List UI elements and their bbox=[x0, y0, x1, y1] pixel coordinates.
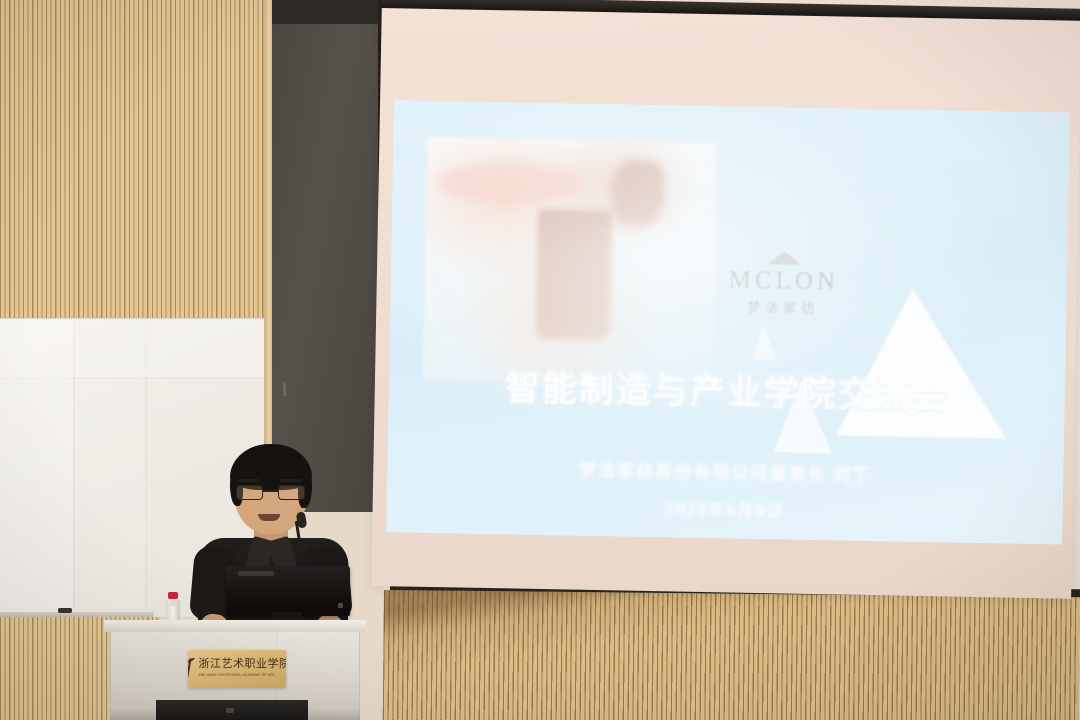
slide-date-line: 2023年6月9日 bbox=[387, 490, 1063, 526]
photo-shadow-primary bbox=[536, 209, 612, 340]
lecture-hall-photo: MCLON 梦洁家纺 智能制造与产业学院交流会 梦洁家纺股份有限公司董事长 刘丁… bbox=[0, 0, 1080, 720]
slide-brand-logo: MCLON 梦洁家纺 bbox=[678, 249, 889, 318]
alcove-header-beam bbox=[272, 0, 384, 24]
brand-triangle-icon bbox=[767, 251, 801, 265]
glasses-lens-right bbox=[278, 485, 305, 500]
wood-slat-wall-left bbox=[0, 0, 268, 318]
door-handle bbox=[283, 382, 286, 396]
speaker-eyebrow-right bbox=[280, 479, 302, 482]
brand-wordmark: MCLON bbox=[679, 265, 889, 297]
podium-top-surface bbox=[104, 620, 366, 632]
speaker-eyebrow-left bbox=[238, 479, 260, 482]
projected-slide: MCLON 梦洁家纺 智能制造与产业学院交流会 梦洁家纺股份有限公司董事长 刘丁… bbox=[386, 100, 1070, 544]
slide-mountain-tiny-icon bbox=[751, 321, 778, 360]
podium-monitor bbox=[226, 566, 350, 616]
glasses-bridge bbox=[263, 490, 278, 492]
whiteboard-marker bbox=[58, 608, 72, 613]
photo-highlight bbox=[436, 161, 587, 206]
cabinet-handle bbox=[226, 708, 234, 713]
podium-nameplate: 浙江艺术职业学院 ZHEJIANG VOCATIONAL ACADEMY OF … bbox=[188, 650, 286, 688]
slide-presenter-line: 梦洁家纺股份有限公司董事长 刘丁 bbox=[387, 452, 1063, 489]
nameplate-text-english: ZHEJIANG VOCATIONAL ACADEMY OF ART bbox=[199, 673, 276, 677]
bottle-cap bbox=[168, 592, 178, 599]
nameplate-text-chinese: 浙江艺术职业学院 bbox=[199, 659, 287, 671]
glasses-lens-left bbox=[236, 485, 263, 500]
wood-slat-wall-right bbox=[383, 590, 1080, 720]
projection-screen-assembly: MCLON 梦洁家纺 智能制造与产业学院交流会 梦洁家纺股份有限公司董事长 刘丁… bbox=[371, 0, 1080, 609]
photo-shadow-secondary bbox=[612, 160, 665, 227]
alcove-recess bbox=[272, 0, 384, 512]
projection-screen-surface: MCLON 梦洁家纺 智能制造与产业学院交流会 梦洁家纺股份有限公司董事长 刘丁… bbox=[371, 8, 1080, 599]
bottle-neck bbox=[170, 598, 176, 606]
glasses-icon bbox=[236, 485, 306, 501]
brand-wordmark-chinese: 梦洁家纺 bbox=[678, 295, 888, 318]
slide-product-photo bbox=[423, 137, 717, 386]
academy-logo-icon bbox=[188, 658, 196, 678]
monitor-power-led bbox=[338, 603, 343, 608]
speaker-mouth bbox=[258, 514, 280, 521]
monitor-vent bbox=[238, 571, 274, 576]
